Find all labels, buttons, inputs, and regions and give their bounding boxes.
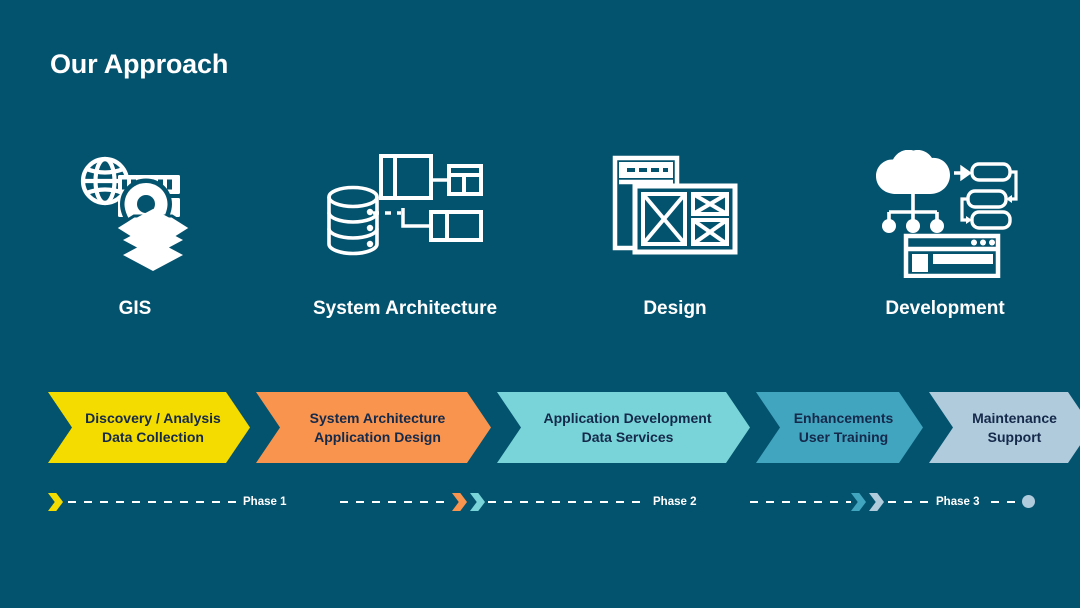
timeline-dash-5 — [888, 501, 932, 503]
timeline-arrow-yellow — [48, 493, 63, 511]
development-icon — [870, 150, 1020, 278]
timeline-end-dot — [1022, 495, 1035, 508]
phase-chevron-band: Discovery / Analysis Data Collection Sys… — [48, 392, 1080, 463]
phase-timeline: Phase 1 Phase 2 Phase 3 — [48, 490, 1048, 514]
timeline-arrow-teal — [851, 493, 866, 511]
approach-label-design: Design — [643, 298, 706, 320]
chevron-discovery-label: Discovery / Analysis Data Collection — [67, 409, 231, 447]
chevron-application-development[interactable]: Application Development Data Services — [497, 392, 750, 463]
chevron-system-architecture-label: System Architecture Application Design — [292, 409, 456, 447]
page-title: Our Approach — [50, 49, 228, 80]
chevron-enhancements[interactable]: Enhancements User Training — [756, 392, 923, 463]
approach-label-development: Development — [885, 298, 1004, 320]
approach-item-design: Design — [540, 150, 810, 335]
approach-icon-row: GIS — [0, 150, 1080, 335]
approach-item-gis: GIS — [0, 150, 270, 335]
timeline-dash-1 — [68, 501, 238, 503]
approach-label-gis: GIS — [119, 298, 152, 320]
approach-label-system-architecture: System Architecture — [313, 298, 497, 320]
timeline-dash-6 — [991, 501, 1016, 503]
system-architecture-icon — [325, 150, 485, 278]
gis-icon — [71, 150, 199, 278]
timeline-arrow-orange — [452, 493, 467, 511]
chevron-enhancements-label: Enhancements User Training — [776, 409, 904, 447]
timeline-label-phase-2: Phase 2 — [653, 493, 696, 511]
timeline-dash-4 — [750, 501, 851, 503]
timeline-arrow-cyan — [470, 493, 485, 511]
chevron-system-architecture[interactable]: System Architecture Application Design — [256, 392, 491, 463]
timeline-dash-3 — [488, 501, 648, 503]
chevron-maintenance[interactable]: Maintenance Support — [929, 392, 1080, 463]
timeline-label-phase-3: Phase 3 — [936, 493, 979, 511]
design-icon — [605, 150, 745, 278]
timeline-dash-2 — [340, 501, 452, 503]
chevron-discovery[interactable]: Discovery / Analysis Data Collection — [48, 392, 250, 463]
approach-item-system-architecture: System Architecture — [270, 150, 540, 335]
chevron-maintenance-label: Maintenance Support — [954, 409, 1067, 447]
chevron-application-development-label: Application Development Data Services — [525, 409, 721, 447]
approach-item-development: Development — [810, 150, 1080, 335]
timeline-label-phase-1: Phase 1 — [243, 493, 286, 511]
timeline-arrow-gray — [869, 493, 884, 511]
